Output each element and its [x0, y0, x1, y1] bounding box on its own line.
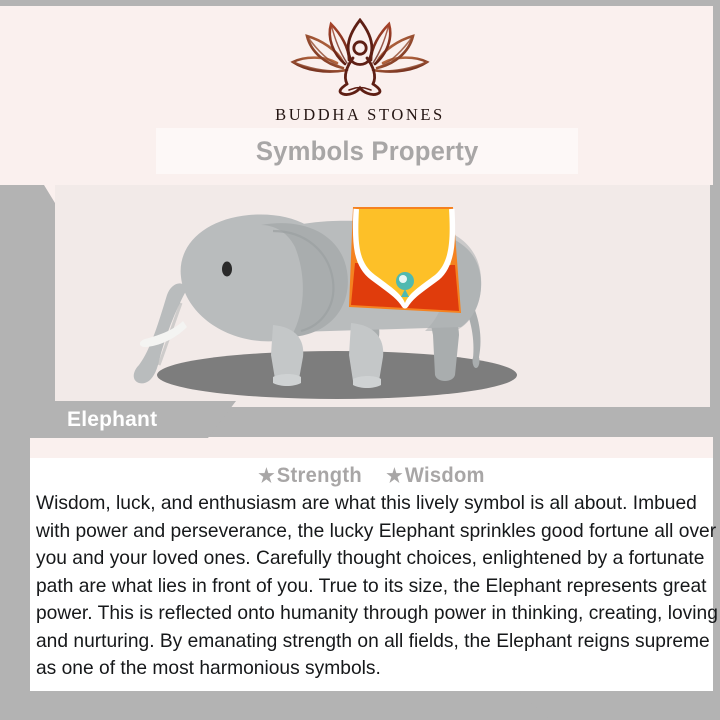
- elephant-illustration: [55, 185, 710, 407]
- brand-name: BUDDHA STONES: [0, 105, 720, 125]
- lotus-meditation-icon: [285, 18, 435, 96]
- title-banner: Symbols Property: [156, 128, 578, 174]
- page-title: Symbols Property: [256, 136, 479, 167]
- star-icon: ★: [386, 466, 403, 487]
- left-frame-band: [0, 185, 55, 407]
- star-icon: ★: [258, 466, 275, 487]
- description-text: Wisdom, luck, and enthusiasm are what th…: [36, 490, 720, 683]
- right-frame-band: [710, 185, 720, 407]
- description-panel: ★Strength ★Wisdom Wisdom, luck, and enth…: [30, 458, 713, 691]
- keyword-label-wisdom: Wisdom: [405, 464, 485, 487]
- illustration-panel: [55, 185, 710, 407]
- keyword-item-wisdom: ★Wisdom: [386, 464, 485, 487]
- symbol-label-banner: Elephant: [0, 401, 236, 438]
- sub-cream-strip: [30, 437, 713, 458]
- symbol-label: Elephant: [67, 408, 157, 432]
- keyword-label-strength: Strength: [277, 464, 362, 487]
- saddle-blanket: [349, 207, 461, 313]
- keyword-list: ★Strength ★Wisdom: [44, 464, 700, 488]
- bottom-frame-band: [0, 691, 550, 720]
- infographic-card: BUDDHA STONES Symbols Property: [0, 0, 720, 720]
- brand-logo: BUDDHA STONES: [0, 18, 720, 125]
- keyword-item-strength: ★Strength: [258, 464, 362, 487]
